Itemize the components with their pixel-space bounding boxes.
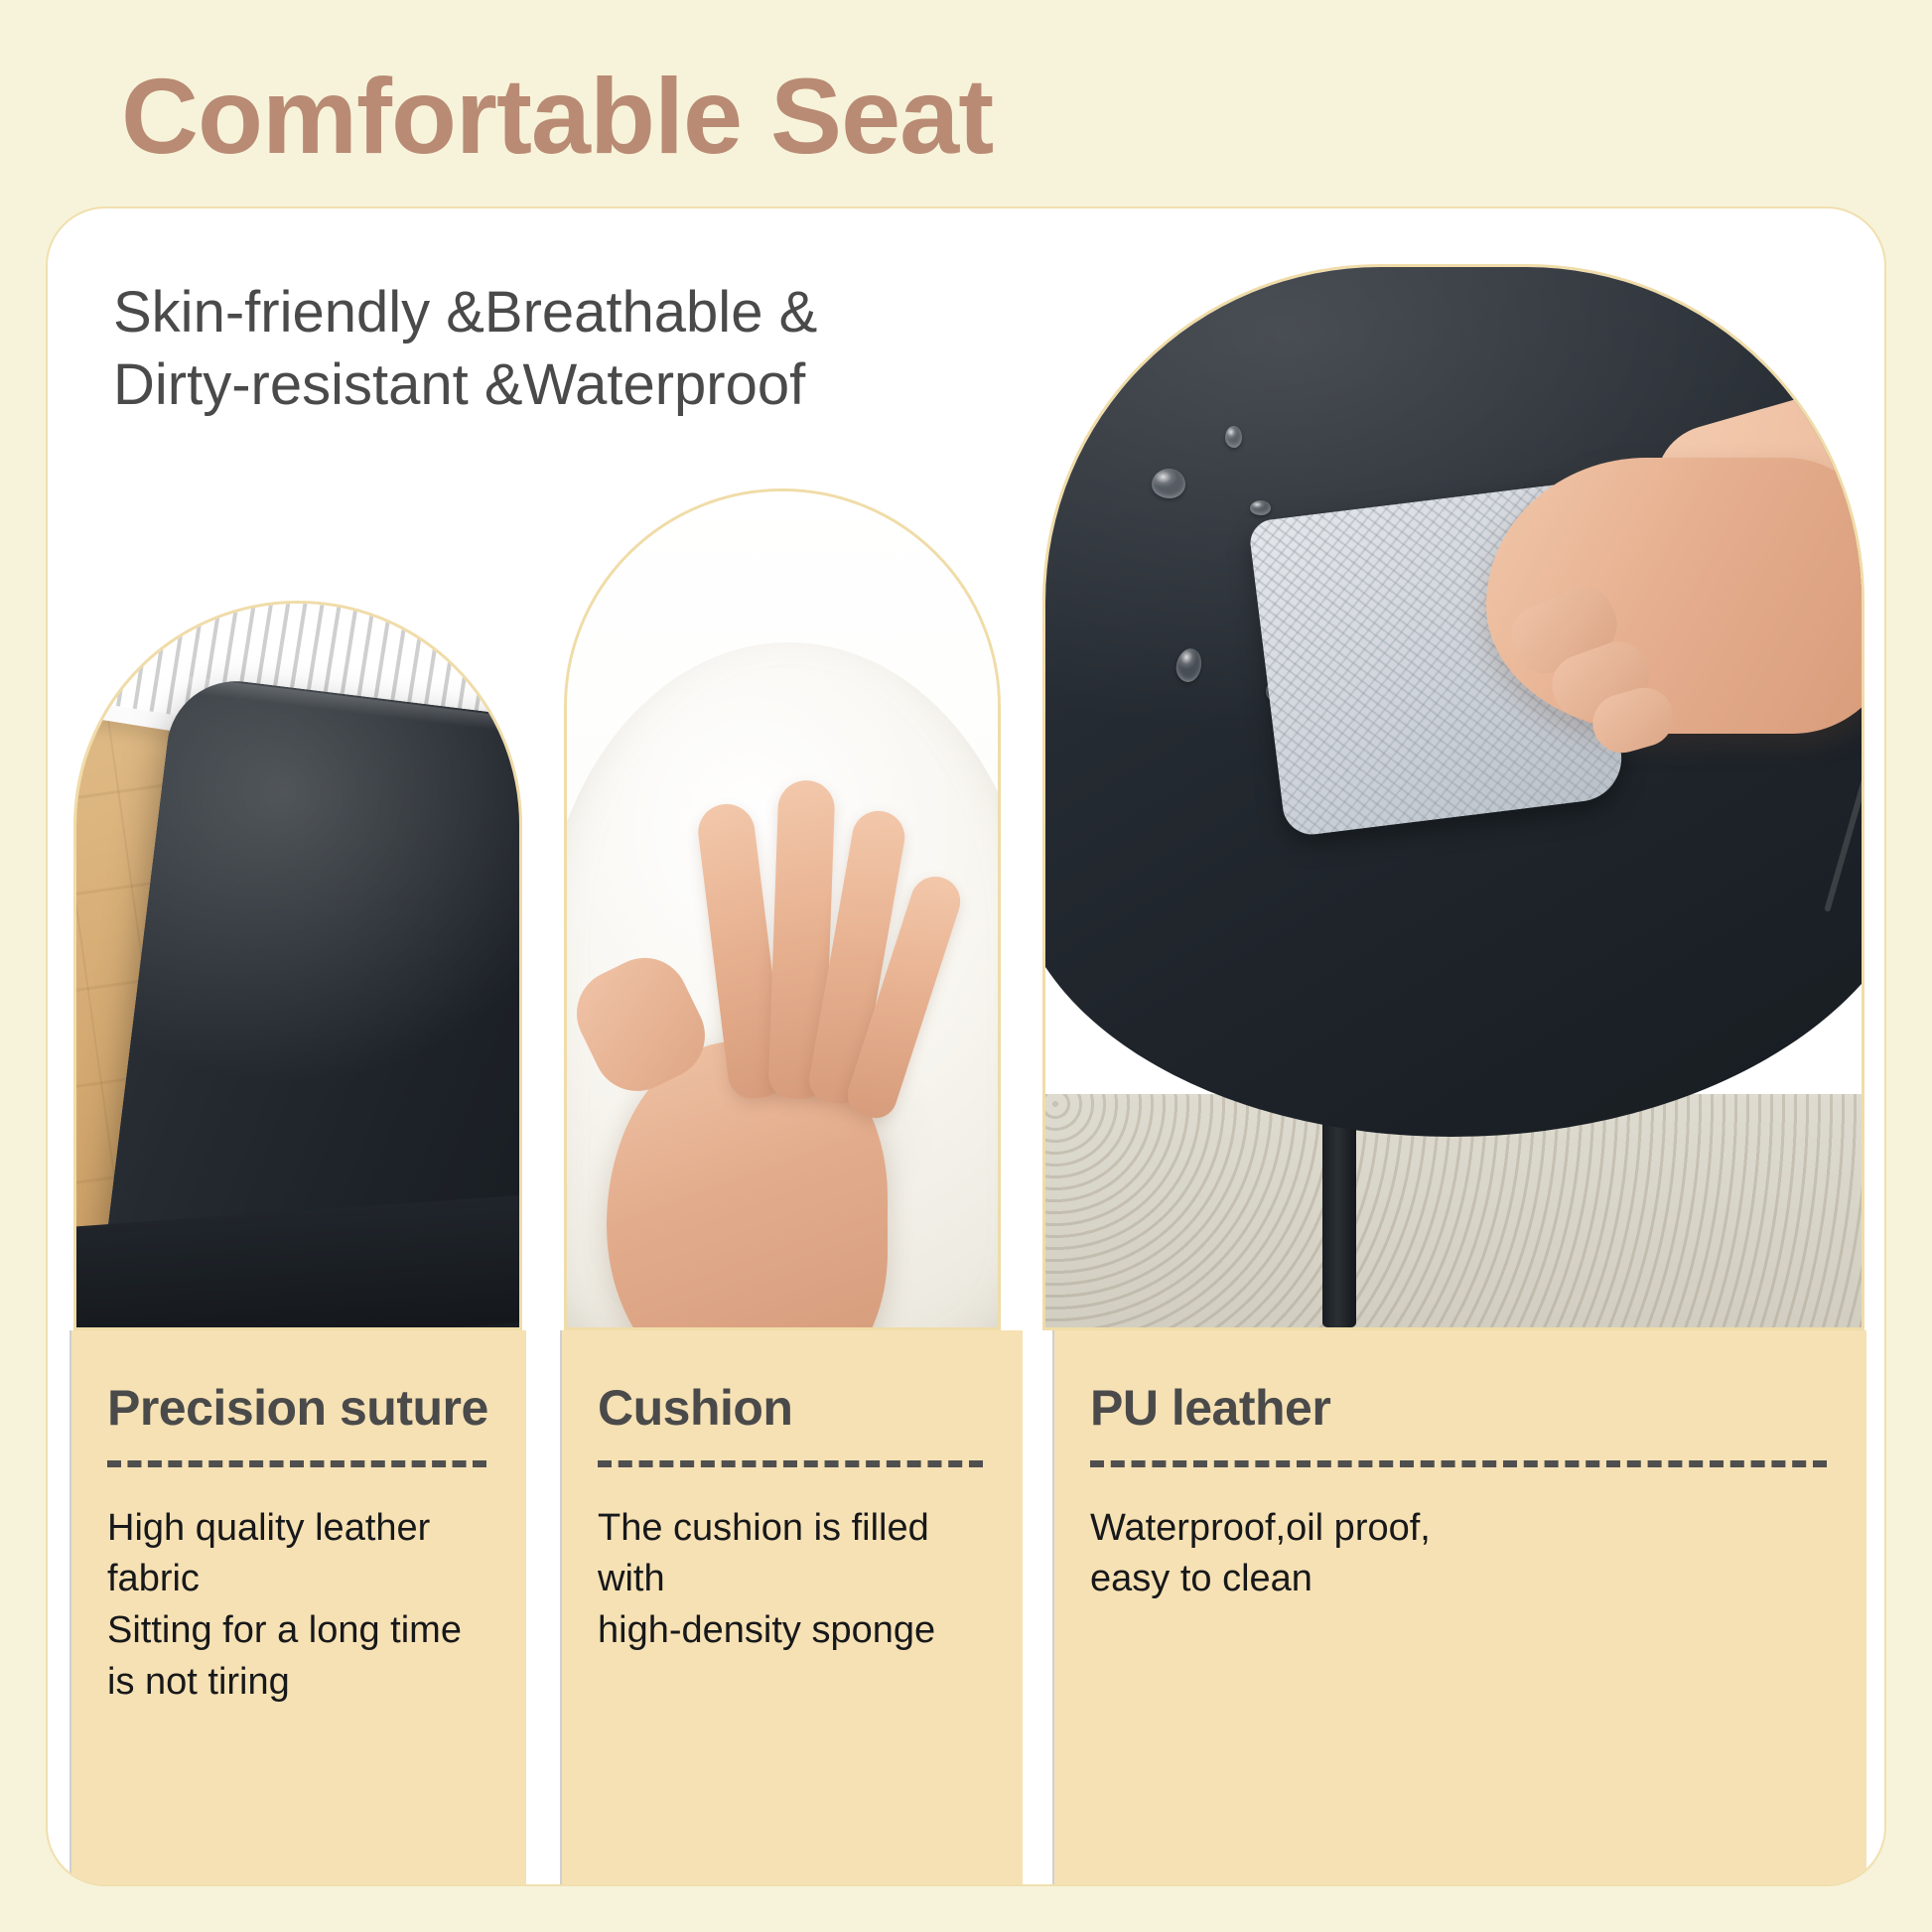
water-droplet (1152, 469, 1185, 498)
chair-leg (1322, 1105, 1356, 1327)
stitch-seam-line (1330, 267, 1862, 310)
caption-body: Waterproof,oil proof, easy to clean (1090, 1503, 1827, 1605)
photo-2-inner (567, 491, 998, 1327)
infographic-page: Comfortable Seat Skin-friendly &Breathab… (0, 0, 1932, 1932)
caption-title: PU leather (1090, 1382, 1827, 1435)
water-droplet (1225, 426, 1242, 448)
content-card: Skin-friendly &Breathable & Dirty-resist… (46, 207, 1886, 1886)
wiping-leather-photo (1042, 264, 1864, 1330)
photo-1-inner (76, 604, 519, 1327)
wiping-hand (1486, 458, 1862, 734)
chair-back-leather-photo (73, 601, 522, 1330)
caption-title: Precision suture (107, 1382, 486, 1435)
water-droplet (1250, 500, 1271, 515)
caption-body: The cushion is filled with high-density … (598, 1503, 983, 1657)
page-title: Comfortable Seat (121, 58, 993, 176)
pressing-hand (584, 826, 963, 1327)
caption-panel-cushion: Cushion The cushion is filled with high-… (560, 1330, 1023, 1886)
hand-pressing-cushion-photo (564, 488, 1001, 1330)
caption-panel-precision-suture: Precision suture High quality leather fa… (69, 1330, 526, 1886)
dashed-divider (107, 1460, 486, 1467)
caption-title: Cushion (598, 1382, 983, 1435)
caption-panel-group: Precision suture High quality leather fa… (48, 1330, 1884, 1886)
dashed-divider (1090, 1460, 1827, 1467)
photo-3-inner (1045, 267, 1862, 1327)
dashed-divider (598, 1460, 983, 1467)
card-subtitle: Skin-friendly &Breathable & Dirty-resist… (113, 276, 817, 421)
caption-body: High quality leather fabric Sitting for … (107, 1503, 486, 1709)
caption-panel-pu-leather: PU leather Waterproof,oil proof, easy to… (1052, 1330, 1866, 1886)
